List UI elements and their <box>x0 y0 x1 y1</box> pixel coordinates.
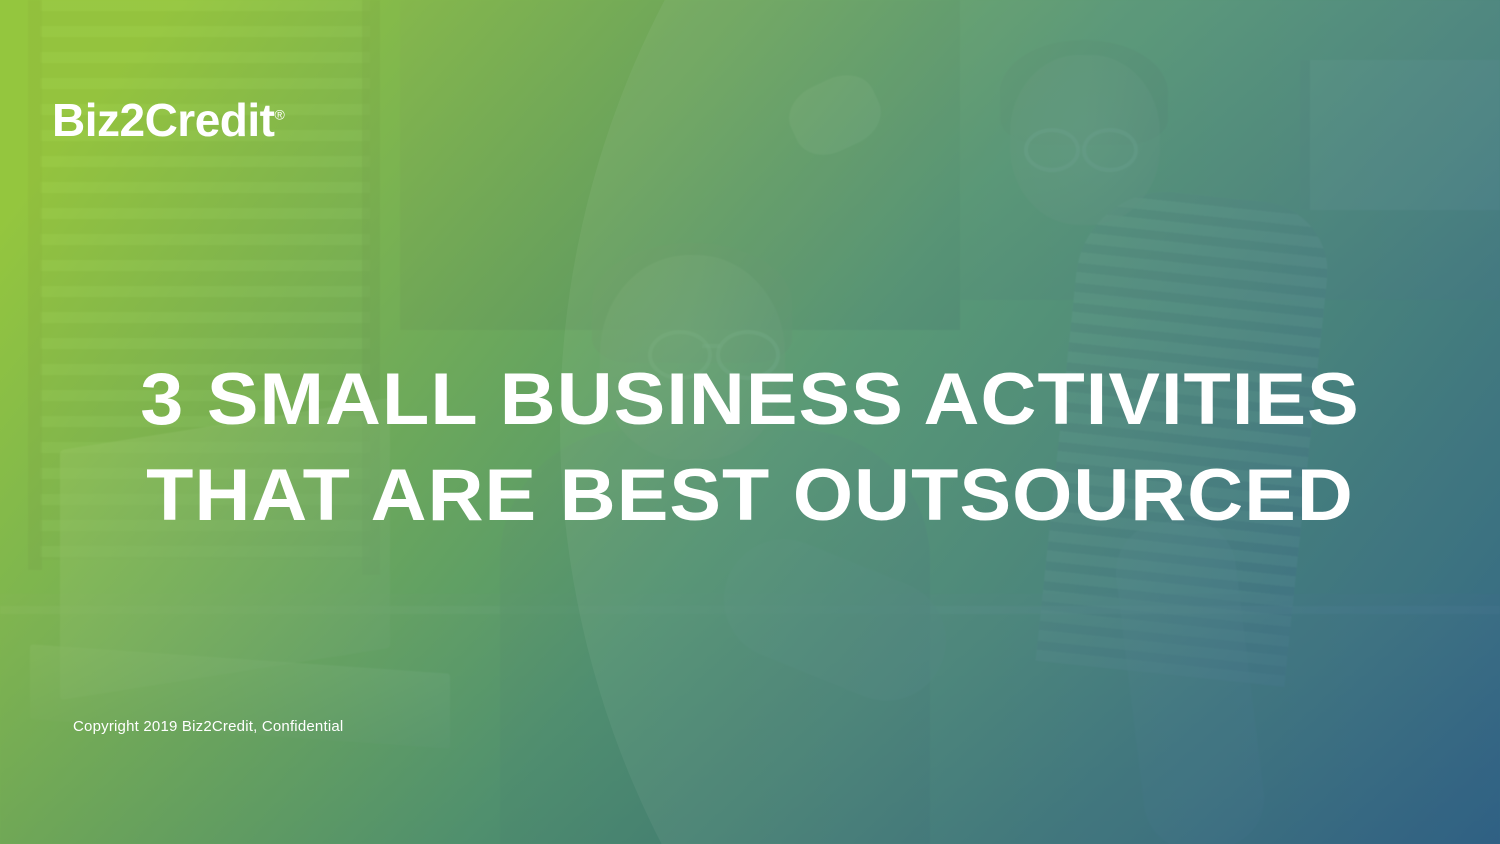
page-title: 3 SMALL BUSINESS ACTIVITIES THAT ARE BES… <box>0 352 1500 544</box>
registered-trademark-icon: ® <box>274 107 284 123</box>
logo-wordmark: Biz2Credit <box>52 94 274 146</box>
title-line-1: 3 SMALL BUSINESS ACTIVITIES <box>0 352 1500 448</box>
copyright-notice: Copyright 2019 Biz2Credit, Confidential <box>73 718 343 735</box>
title-line-2: THAT ARE BEST OUTSOURCED <box>0 448 1500 544</box>
brand-logo: Biz2Credit® <box>52 97 285 143</box>
slide-content: Biz2Credit® 3 SMALL BUSINESS ACTIVITIES … <box>0 0 1500 844</box>
title-slide: Biz2Credit® 3 SMALL BUSINESS ACTIVITIES … <box>0 0 1500 844</box>
